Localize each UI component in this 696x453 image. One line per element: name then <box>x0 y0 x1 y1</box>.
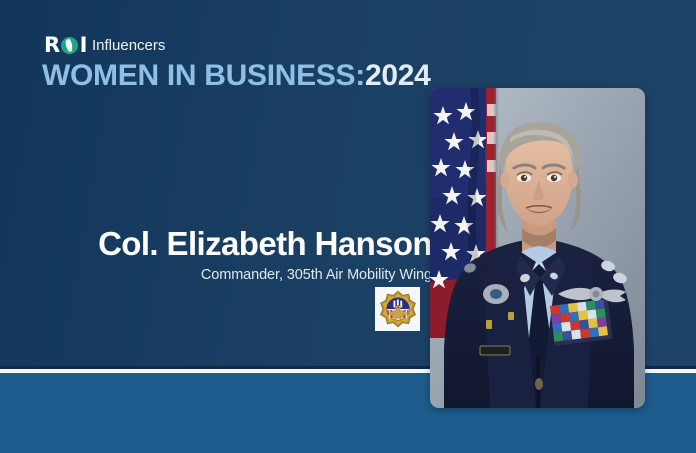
roi-logo-letter-i: I <box>80 36 87 55</box>
roi-logo-wordmark: Influencers <box>92 36 165 55</box>
program-headline: WOMEN IN BUSINESS:2024 <box>42 60 431 92</box>
roi-influencers-logo: R I Influencers <box>44 36 165 55</box>
honoree-title: Commander, 305th Air Mobility Wing <box>42 266 432 284</box>
roi-influencers-honoree-poster: R I Influencers WOMEN IN BUSINESS:2024 C… <box>0 0 696 453</box>
portrait-illustration <box>430 88 645 408</box>
roi-logo-letter-r: R <box>44 36 60 55</box>
organization-emblem-card <box>375 287 420 331</box>
program-headline-year: 2024 <box>365 59 431 92</box>
air-mobility-wing-emblem-icon <box>379 290 417 328</box>
roi-logo-mark: R I <box>44 36 87 55</box>
program-headline-main: WOMEN IN BUSINESS: <box>42 59 365 92</box>
new-jersey-state-shape-icon <box>61 37 78 54</box>
honoree-name: Col. Elizabeth Hanson <box>42 225 432 263</box>
honoree-portrait-photo <box>430 88 645 408</box>
